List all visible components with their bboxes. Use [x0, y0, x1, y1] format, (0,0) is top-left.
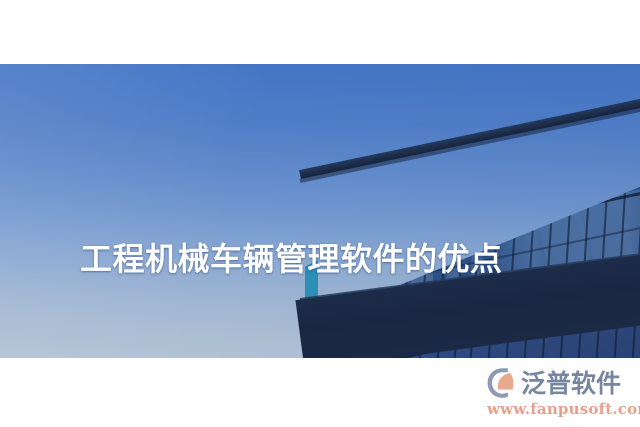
fanpu-swoosh-logo-icon	[486, 367, 518, 399]
logo-website-url: www.fanpusoft.com	[487, 400, 640, 418]
logo-wordmark-row: 泛普软件	[486, 367, 621, 399]
top-white-margin	[0, 0, 640, 64]
logo-wordmark-text: 泛普软件	[521, 371, 621, 396]
hero-photograph: 工程机械车辆管理软件的优点	[0, 64, 640, 358]
brand-logo[interactable]: 泛普软件 www.fanpusoft.com	[486, 365, 632, 421]
banner-image: 工程机械车辆管理软件的优点 泛普软件 www.fanpusoft.com	[0, 0, 640, 427]
page-title: 工程机械车辆管理软件的优点	[80, 243, 503, 275]
building-parapet	[299, 96, 640, 179]
